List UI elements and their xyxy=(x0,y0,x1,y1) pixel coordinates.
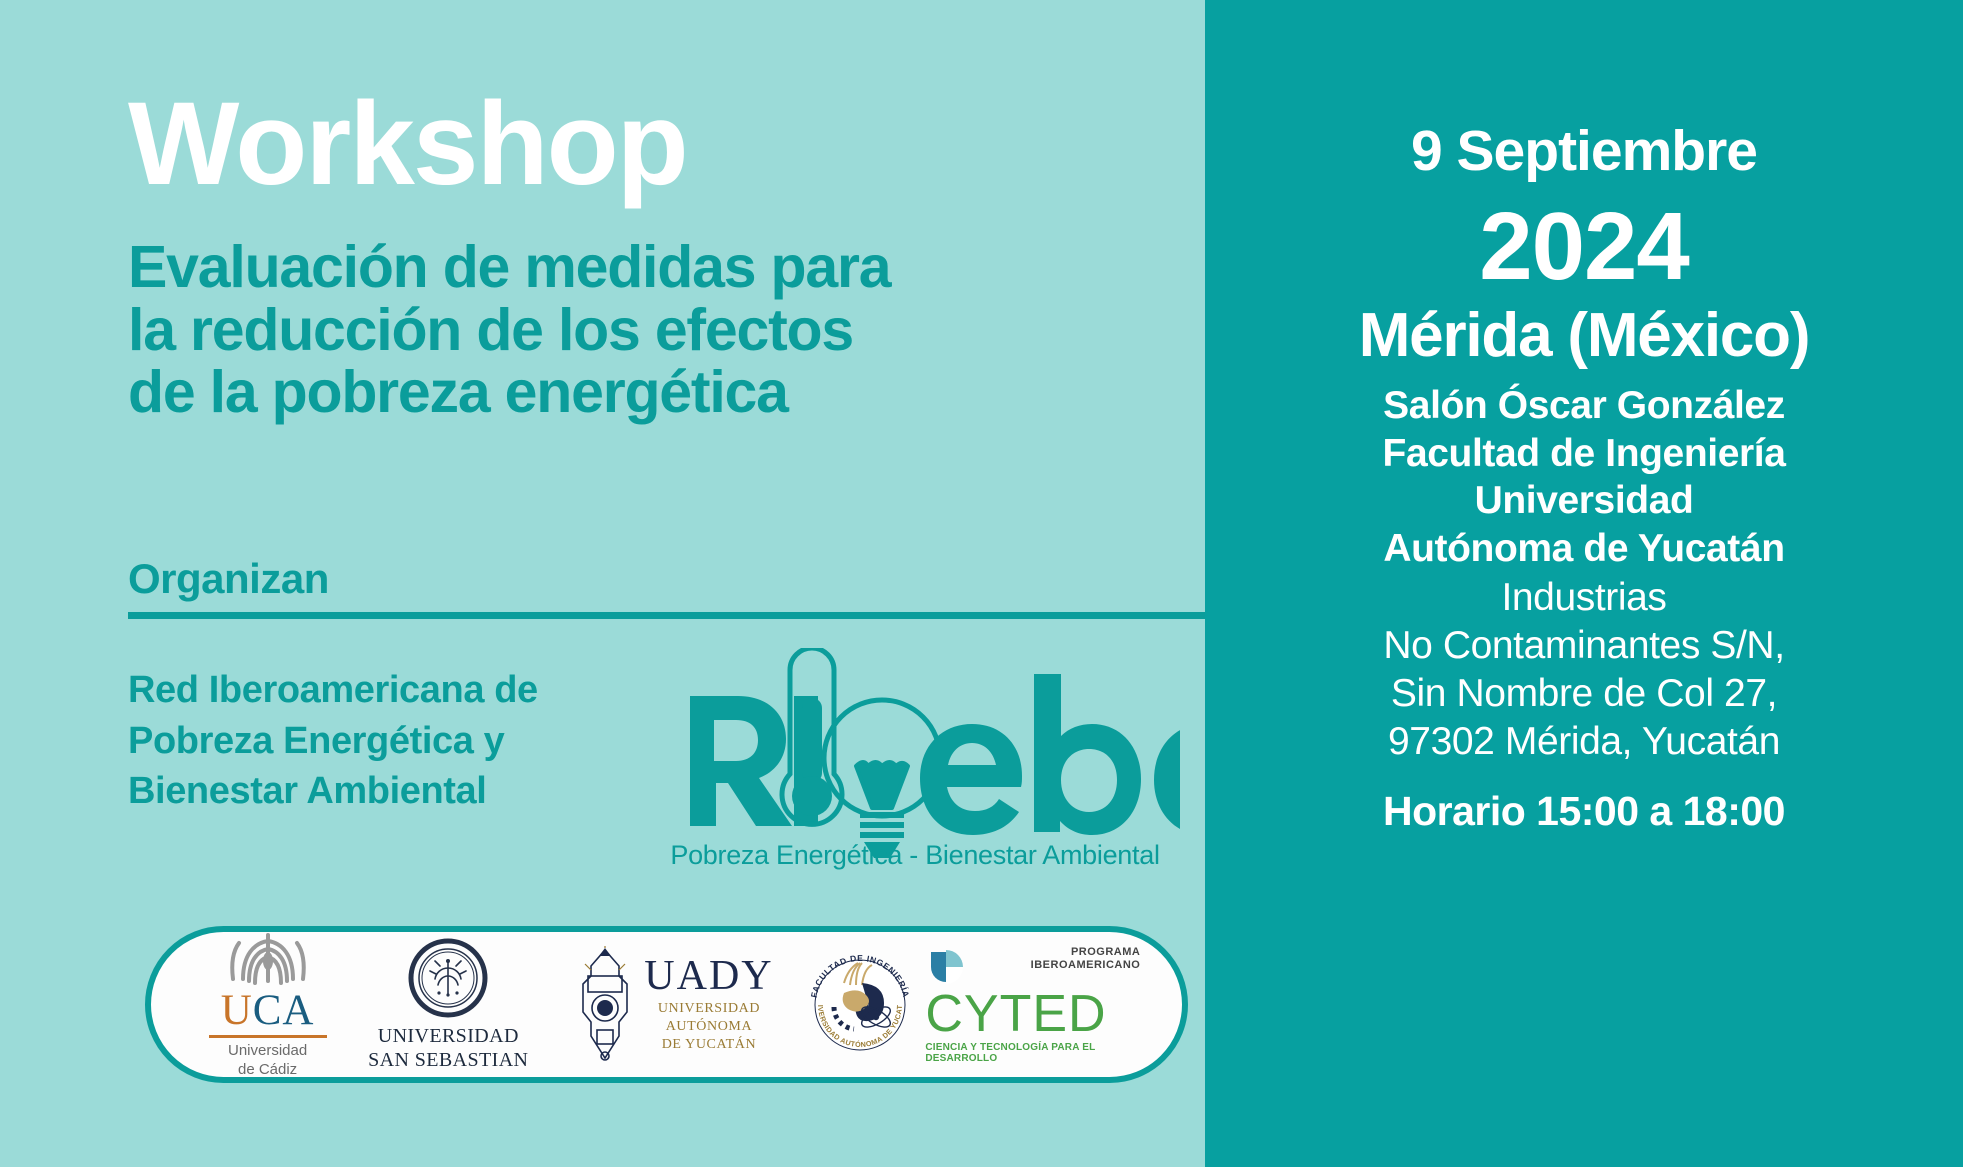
cyted-program-line-2: IBEROAMERICANO xyxy=(1031,959,1141,973)
sponsor-logo-uca: UCA Universidad de Cádiz xyxy=(193,929,343,1080)
event-schedule: Horario 15:00 a 18:00 xyxy=(1205,788,1963,835)
uca-letters-ca: CA xyxy=(253,987,315,1034)
address-line-2: No Contaminantes S/N, xyxy=(1205,622,1963,670)
network-line-2: Pobreza Energética y xyxy=(128,716,538,767)
subtitle-line-1: Evaluación de medidas para xyxy=(128,236,1198,299)
uss-name-line-1: UNIVERSIDAD xyxy=(368,1024,528,1048)
event-city: Mérida (México) xyxy=(1205,300,1963,371)
facultad-ingenieria-seal-icon: FACULTAD DE INGENIERÍA UNIVERSIDAD AUTÓN… xyxy=(804,949,916,1061)
event-date: 9 Septiembre xyxy=(1205,118,1963,184)
ripeba-logo-svg xyxy=(660,648,1180,868)
cyted-wordmark: CYTED xyxy=(925,988,1106,1040)
ripeba-tagline: Pobreza Energética - Bienestar Ambiental xyxy=(660,840,1170,871)
uss-name-line-2: SAN SEBASTIAN xyxy=(368,1048,528,1072)
uady-sub-line-2: AUTÓNOMA xyxy=(658,1018,760,1036)
subtitle-line-3: de la pobreza energética xyxy=(128,361,1198,424)
network-line-3: Bienestar Ambiental xyxy=(128,766,538,817)
uss-seal-icon xyxy=(408,938,488,1018)
workshop-subtitle: Evaluación de medidas para la reducción … xyxy=(128,236,1198,424)
subtitle-line-2: la reducción de los efectos xyxy=(128,299,1198,362)
uady-acronym: UADY xyxy=(644,955,773,997)
ripeba-logo xyxy=(660,648,1180,868)
uss-name: UNIVERSIDAD SAN SEBASTIAN xyxy=(368,1024,528,1072)
sponsor-logo-cyted: PROGRAMA IBEROAMERICANO CYTED CIENCIA Y … xyxy=(925,946,1140,1064)
event-year: 2024 xyxy=(1205,192,1963,302)
uca-acronym: UCA xyxy=(221,989,315,1032)
uady-subtitle: UNIVERSIDAD AUTÓNOMA DE YUCATÁN xyxy=(658,1000,760,1055)
venue-line-3: Universidad xyxy=(1205,477,1963,525)
cyted-pinwheel-icon xyxy=(925,946,967,988)
uady-sub-line-1: UNIVERSIDAD xyxy=(658,1000,760,1018)
cyted-program-label: PROGRAMA IBEROAMERICANO xyxy=(1031,946,1141,974)
uca-rule xyxy=(209,1035,327,1038)
cyted-top-row: PROGRAMA IBEROAMERICANO xyxy=(925,946,1140,988)
uca-sub-line-2: de Cádiz xyxy=(228,1061,307,1080)
uca-letter-u: U xyxy=(221,987,253,1034)
sponsor-logos-strip: UCA Universidad de Cádiz xyxy=(145,926,1188,1083)
event-address: Industrias No Contaminantes S/N, Sin Nom… xyxy=(1205,574,1963,766)
venue-line-2: Facultad de Ingeniería xyxy=(1205,430,1963,478)
address-line-4: 97302 Mérida, Yucatán xyxy=(1205,718,1963,766)
uady-sub-line-3: DE YUCATÁN xyxy=(658,1036,760,1054)
uca-subtitle: Universidad de Cádiz xyxy=(228,1042,307,1080)
organizers-divider xyxy=(128,612,1205,619)
address-line-1: Industrias xyxy=(1205,574,1963,622)
sponsor-logo-facultad-de-ingenieria: FACULTAD DE INGENIERÍA UNIVERSIDAD AUTÓN… xyxy=(797,949,922,1061)
uady-crest-icon xyxy=(574,946,636,1064)
sponsor-logo-uady: UADY UNIVERSIDAD AUTÓNOMA DE YUCATÁN xyxy=(554,946,794,1064)
venue-line-4: Autónoma de Yucatán xyxy=(1205,525,1963,573)
ripeba-letters-eba xyxy=(920,674,1180,835)
ripeba-letter-R xyxy=(690,696,792,826)
workshop-poster: Workshop Evaluación de medidas para la r… xyxy=(0,0,1963,1167)
organizer-network-name: Red Iberoamericana de Pobreza Energética… xyxy=(128,665,538,817)
page-title: Workshop xyxy=(128,85,687,203)
uca-sub-line-1: Universidad xyxy=(228,1042,307,1061)
event-venue: Salón Óscar González Facultad de Ingenie… xyxy=(1205,382,1963,572)
uady-text: UADY UNIVERSIDAD AUTÓNOMA DE YUCATÁN xyxy=(644,955,773,1055)
venue-line-1: Salón Óscar González xyxy=(1205,382,1963,430)
network-line-1: Red Iberoamericana de xyxy=(128,665,538,716)
organizers-heading: Organizan xyxy=(128,555,329,603)
address-line-3: Sin Nombre de Col 27, xyxy=(1205,670,1963,718)
cyted-program-line-1: PROGRAMA xyxy=(1031,946,1141,960)
sponsor-logo-universidad-san-sebastian: UNIVERSIDAD SAN SEBASTIAN xyxy=(346,938,551,1072)
cyted-tagline: CIENCIA Y TECNOLOGÍA PARA EL DESARROLLO xyxy=(925,1042,1140,1064)
uca-wheat-icon xyxy=(209,929,327,987)
